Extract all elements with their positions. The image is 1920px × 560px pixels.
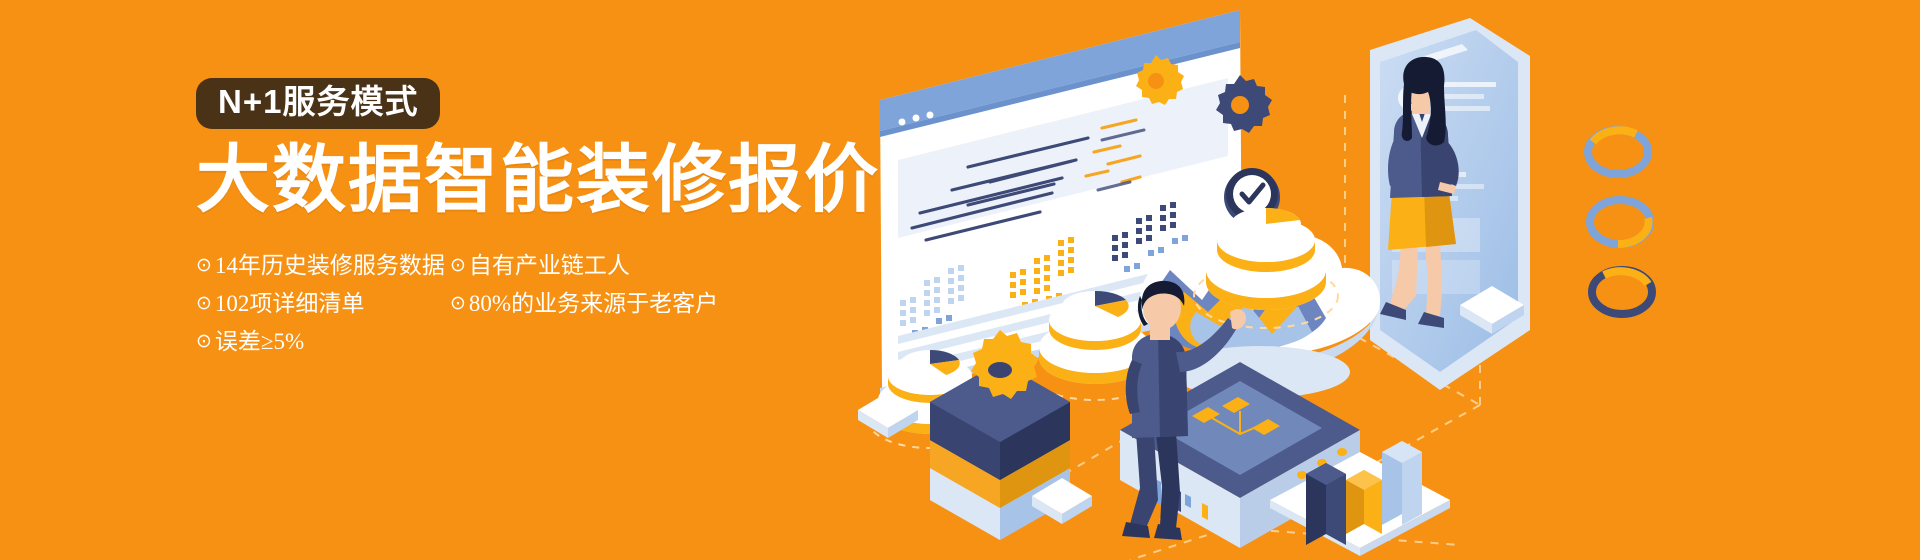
bullet-marker-icon: ⊙ [196, 332, 212, 351]
big-data-illustration [840, 0, 1920, 560]
list-item-label: 14年历史装修服务数据 [215, 254, 445, 277]
list-item: ⊙ 14年历史装修服务数据 [196, 247, 450, 285]
bullet-marker-icon: ⊙ [450, 294, 466, 313]
ring-chart-3 [1592, 270, 1652, 314]
list-item-label: 误差≥5% [215, 330, 304, 353]
service-model-badge: N+1服务模式 [196, 78, 440, 129]
bullet-column-left: ⊙ 14年历史装修服务数据 ⊙ 102项详细清单 ⊙ 误差≥5% [196, 247, 450, 361]
bullet-marker-icon: ⊙ [450, 256, 466, 275]
list-item-label: 80%的业务来源于老客户 [469, 292, 718, 315]
bullet-marker-icon: ⊙ [196, 256, 212, 275]
list-item-label: 自有产业链工人 [469, 254, 630, 277]
bullet-column-right: ⊙ 自有产业链工人 ⊙ 80%的业务来源于老客户 [450, 247, 750, 361]
promo-banner: N+1服务模式 大数据智能装修报价 ⊙ 14年历史装修服务数据 ⊙ 102项详细… [0, 0, 1920, 560]
ring-chart-2 [1590, 200, 1650, 244]
list-item: ⊙ 误差≥5% [196, 323, 450, 361]
ring-chart-1 [1588, 130, 1648, 174]
list-item-label: 102项详细清单 [215, 292, 365, 315]
feature-bullets: ⊙ 14年历史装修服务数据 ⊙ 102项详细清单 ⊙ 误差≥5% ⊙ 自有产业链… [196, 247, 916, 361]
list-item: ⊙ 80%的业务来源于老客户 [450, 285, 750, 323]
list-item: ⊙ 自有产业链工人 [450, 247, 750, 285]
page-title: 大数据智能装修报价 [196, 143, 916, 217]
banner-copy: N+1服务模式 大数据智能装修报价 ⊙ 14年历史装修服务数据 ⊙ 102项详细… [196, 78, 916, 361]
list-item: ⊙ 102项详细清单 [196, 285, 450, 323]
bullet-marker-icon: ⊙ [196, 294, 212, 313]
